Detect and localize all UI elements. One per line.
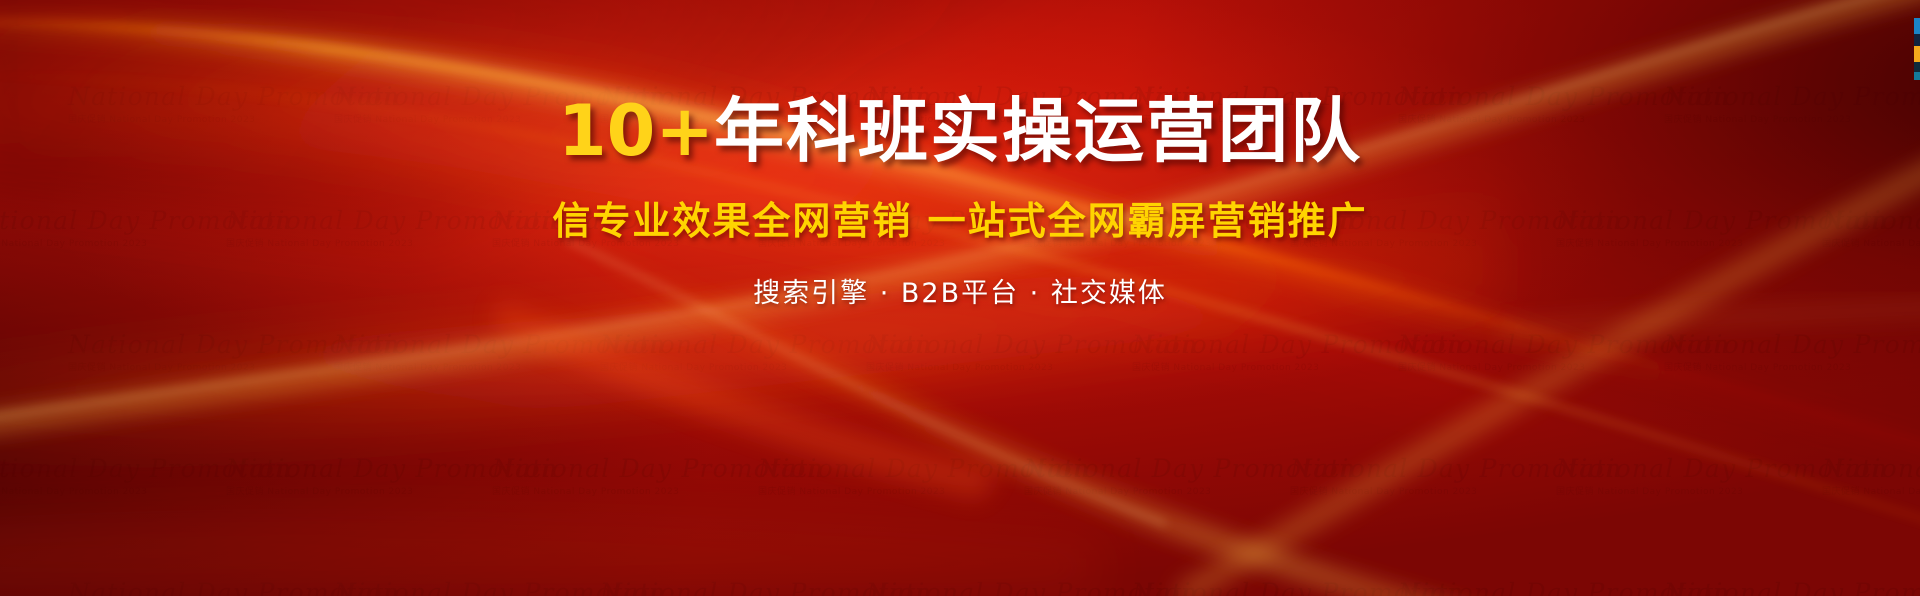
banner-content: 10+年科班实操运营团队 信专业效果全网营销 一站式全网霸屏营销推广 搜索引擎 … xyxy=(0,0,1920,596)
carousel-next-slide-sliver[interactable] xyxy=(1914,18,1920,80)
sliver-band-4 xyxy=(1914,62,1920,72)
banner-subheadline: 信专业效果全网营销 一站式全网霸屏营销推广 xyxy=(552,190,1367,245)
banner-tagline: 搜索引擎 · B2B平台 · 社交媒体 xyxy=(753,271,1167,310)
sliver-band-1 xyxy=(1914,18,1920,34)
hero-banner[interactable]: National Day Promotion国庆促销 National Day … xyxy=(0,0,1920,596)
headline-number: 10+ xyxy=(558,90,714,172)
banner-headline: 10+年科班实操运营团队 xyxy=(558,96,1362,166)
headline-text: 年科班实操运营团队 xyxy=(714,90,1362,172)
sliver-band-2 xyxy=(1914,34,1920,46)
sliver-band-3 xyxy=(1914,46,1920,62)
sliver-band-5 xyxy=(1914,72,1920,80)
